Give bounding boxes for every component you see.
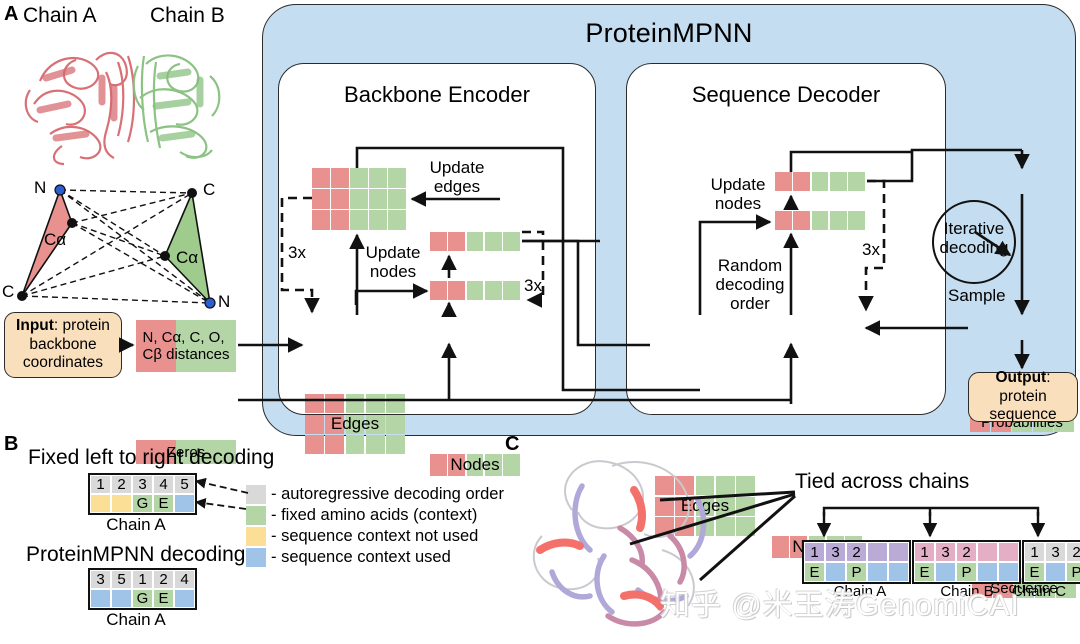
legend-row: - fixed amino acids (context): [246, 505, 504, 526]
legend-label: - fixed amino acids (context): [271, 506, 477, 525]
panel-letter-a: A: [4, 4, 18, 24]
tied-order-cell: 3: [1045, 542, 1066, 562]
mpnn-grid-residue-cell: G: [132, 589, 153, 608]
encoder-update-nodes-label: Update nodes: [355, 243, 431, 281]
tied-residue-cell: [1045, 562, 1066, 582]
tied-order-cell: 3: [935, 542, 956, 562]
mpnn-grid-residue-cell: E: [153, 589, 174, 608]
tied-residue-cell: [867, 562, 888, 582]
fixed-grid-residue-cell: [90, 494, 111, 513]
mpnn-grid-order-cell: 5: [111, 570, 132, 589]
tied-chain-grid: 132EP: [912, 540, 1021, 584]
encoder-repeat-edges-label: 3x: [288, 243, 306, 262]
tied-order-cell: 3: [825, 542, 846, 562]
tied-residue-cell: E: [1024, 562, 1045, 582]
atom-label-c-right: C: [203, 180, 215, 199]
distances-token-block: N, Cα, C, O, Cβ distances: [136, 320, 236, 372]
proteinmpnn-title: ProteinMPNN: [262, 18, 1076, 49]
fixed-grid-order-cell: 3: [132, 475, 153, 494]
legend-row: - autoregressive decoding order: [246, 484, 504, 505]
legend-label: - sequence context used: [271, 548, 451, 567]
tied-chain-grids: 132EP132EP132EP: [802, 540, 1080, 584]
atom-label-n-right: N: [218, 292, 230, 311]
iterative-decoding-label: Iterative decoding: [932, 219, 1016, 257]
tied-residue-cell: E: [804, 562, 825, 582]
chain-b-label: Chain B: [150, 4, 225, 28]
protein-dimer-cartoon-image: [10, 26, 250, 166]
tied-order-cell: 1: [914, 542, 935, 562]
fixed-decoding-grid: 12345GE: [88, 473, 197, 515]
atom-label-n-left: N: [34, 178, 46, 197]
atom-label-ca-right: Cα: [176, 248, 198, 267]
tied-across-chains-label: Tied across chains: [795, 470, 969, 494]
encoder-updated-edges-matrix: [312, 168, 406, 230]
legend-label: - autoregressive decoding order: [271, 485, 504, 504]
mpnn-grid-residue-cell: [111, 589, 132, 608]
input-box-bold: Input: [16, 317, 54, 334]
tied-order-cell: [998, 542, 1019, 562]
tied-residue-cell: [977, 562, 998, 582]
encoder-updated-nodes-row: [430, 232, 520, 251]
fixed-grid-order-cell: 5: [174, 475, 195, 494]
mpnn-grid-residue-cell: [174, 589, 195, 608]
tied-order-cell: 2: [846, 542, 867, 562]
mpnn-grid-order-cell: 4: [174, 570, 195, 589]
panel-b-legend: - autoregressive decoding order- fixed a…: [246, 484, 504, 568]
mpnn-grid-order-cell: 2: [153, 570, 174, 589]
tied-residue-cell: P: [956, 562, 977, 582]
encoder-edges-matrix: Edges: [305, 394, 405, 454]
fixed-grid-order-cell: 1: [90, 475, 111, 494]
fixed-grid-order-cell: 2: [111, 475, 132, 494]
sample-label: Sample: [948, 286, 1006, 305]
decoder-updated-nodes-row: [775, 172, 865, 191]
decoder-random-order-label: Random decoding order: [708, 256, 792, 313]
mpnn-grid-residue-cell: [90, 589, 111, 608]
tied-chain-grid: 132EP: [1022, 540, 1080, 584]
tied-order-cell: [888, 542, 909, 562]
fixed-grid-order-cell: 4: [153, 475, 174, 494]
legend-label: - sequence context not used: [271, 527, 478, 546]
mpnn-grid-order-cell: 1: [132, 570, 153, 589]
tied-residue-cell: P: [846, 562, 867, 582]
fixed-grid-chain-caption: Chain A: [76, 515, 196, 534]
decoder-update-nodes-label: Update nodes: [700, 175, 776, 213]
chain-a-label: Chain A: [23, 4, 97, 28]
legend-swatch-yellow: [246, 527, 266, 546]
decoder-repeat-nodes-label: 3x: [862, 240, 880, 259]
legend-row: - sequence context not used: [246, 526, 504, 547]
encoder-nodes-block: Nodes: [430, 454, 520, 476]
tied-chain-grid: 132EP: [802, 540, 911, 584]
fixed-grid-residue-cell: G: [132, 494, 153, 513]
mpnn-grid-chain-caption: Chain A: [76, 610, 196, 629]
tied-residue-cell: [825, 562, 846, 582]
tied-order-cell: 1: [1024, 542, 1045, 562]
legend-swatch-gray: [246, 485, 266, 504]
tied-order-cell: [977, 542, 998, 562]
backbone-encoder-title: Backbone Encoder: [278, 82, 596, 108]
tied-residue-cell: [998, 562, 1019, 582]
fixed-grid-residue-cell: E: [153, 494, 174, 513]
mpnn-decoding-title: ProteinMPNN decoding: [26, 543, 245, 567]
tied-order-cell: 2: [1066, 542, 1080, 562]
mpnn-grid-order-cell: 3: [90, 570, 111, 589]
encoder-repeat-nodes-label: 3x: [524, 276, 542, 295]
tied-residue-cell: [935, 562, 956, 582]
watermark-text: 知乎 @米玉涛GenomiCAI: [660, 580, 1020, 624]
legend-swatch-green: [246, 506, 266, 525]
mpnn-decoding-grid: 35124GE: [88, 568, 197, 610]
input-box: Input: protein backbone coordinates: [4, 312, 122, 378]
tied-residue-cell: E: [914, 562, 935, 582]
atom-label-c-left: C: [2, 282, 14, 301]
tied-order-cell: 2: [956, 542, 977, 562]
decoder-nodes-mid-row: [775, 211, 865, 230]
atom-label-ca-left: Cα: [44, 230, 66, 249]
legend-swatch-blue: [246, 548, 266, 567]
encoder-update-edges-label: Update edges: [414, 158, 500, 196]
output-box: Output: protein sequence: [968, 372, 1078, 422]
panel-letter-b: B: [4, 434, 18, 454]
output-box-bold: Output: [995, 369, 1046, 386]
fixed-grid-residue-cell: [111, 494, 132, 513]
encoder-nodes-mid-row: [430, 281, 520, 300]
tied-order-cell: [867, 542, 888, 562]
tied-order-cell: 1: [804, 542, 825, 562]
legend-row: - sequence context used: [246, 547, 504, 568]
fixed-grid-residue-cell: [174, 494, 195, 513]
fixed-decoding-title: Fixed left to right decoding: [28, 446, 274, 470]
tied-residue-cell: [888, 562, 909, 582]
tied-residue-cell: P: [1066, 562, 1080, 582]
sequence-decoder-box: [626, 63, 946, 415]
sequence-decoder-title: Sequence Decoder: [626, 82, 946, 108]
